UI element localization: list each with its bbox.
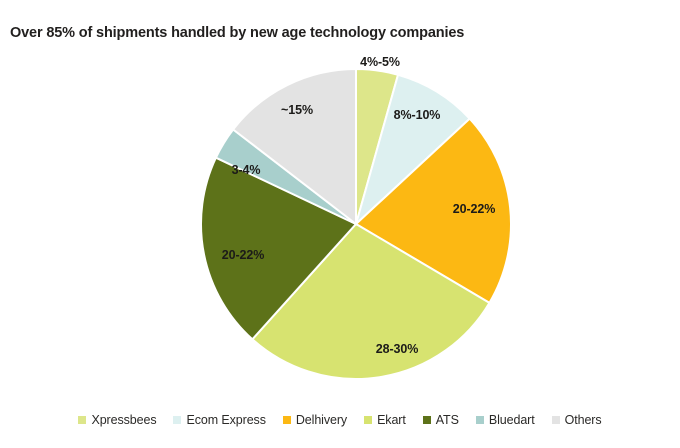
pie-svg	[0, 40, 680, 395]
pie-label-xpressbees: 4%-5%	[360, 55, 400, 69]
legend-swatch-bluedart	[476, 416, 484, 424]
chart-page: Over 85% of shipments handled by new age…	[0, 0, 680, 448]
legend-item-ekart[interactable]: Ekart	[364, 413, 406, 427]
legend-swatch-others	[552, 416, 560, 424]
legend-label-others: Others	[565, 413, 602, 427]
legend-item-ats[interactable]: ATS	[423, 413, 459, 427]
legend-swatch-ecom-express	[173, 416, 181, 424]
legend-swatch-xpressbees	[78, 416, 86, 424]
legend-swatch-ats	[423, 416, 431, 424]
legend-label-ecom-express: Ecom Express	[186, 413, 265, 427]
pie-label-bluedart: 3-4%	[232, 163, 261, 177]
page-title: Over 85% of shipments handled by new age…	[10, 25, 464, 41]
pie-label-delhivery: 20-22%	[453, 202, 496, 216]
legend-label-xpressbees: Xpressbees	[91, 413, 156, 427]
legend-item-delhivery[interactable]: Delhivery	[283, 413, 347, 427]
legend-swatch-ekart	[364, 416, 372, 424]
pie-slice-group	[201, 69, 511, 379]
pie-label-ekart: 28-30%	[376, 342, 419, 356]
legend-item-others[interactable]: Others	[552, 413, 602, 427]
legend-swatch-delhivery	[283, 416, 291, 424]
legend-item-bluedart[interactable]: Bluedart	[476, 413, 535, 427]
pie-label-others: ~15%	[281, 103, 313, 117]
pie-chart: 4%-5%8%-10%20-22%28-30%20-22%3-4%~15%	[0, 40, 680, 395]
legend-label-ats: ATS	[436, 413, 459, 427]
legend-item-xpressbees[interactable]: Xpressbees	[78, 413, 156, 427]
legend-label-delhivery: Delhivery	[296, 413, 347, 427]
legend: XpressbeesEcom ExpressDelhiveryEkartATSB…	[0, 407, 680, 433]
legend-label-bluedart: Bluedart	[489, 413, 535, 427]
legend-label-ekart: Ekart	[377, 413, 406, 427]
legend-item-ecom-express[interactable]: Ecom Express	[173, 413, 265, 427]
pie-label-ecom-express: 8%-10%	[394, 108, 441, 122]
pie-label-ats: 20-22%	[222, 248, 265, 262]
